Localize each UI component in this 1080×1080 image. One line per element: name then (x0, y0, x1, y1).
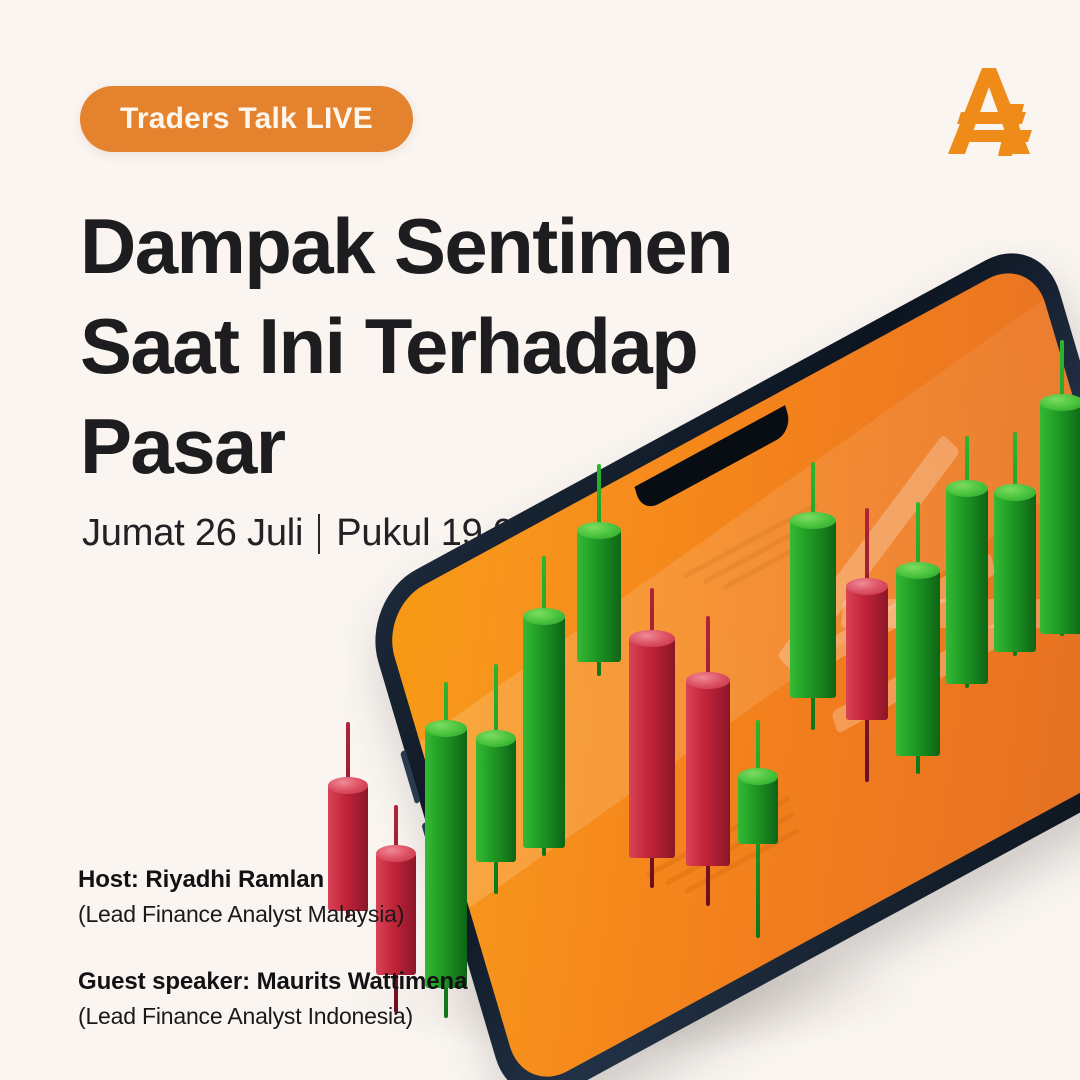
candle-body (994, 492, 1036, 652)
candle-top-cap (738, 768, 778, 785)
candle-top-cap (476, 730, 516, 747)
candlestick-down (629, 630, 675, 850)
guest-role: (Lead Finance Analyst Indonesia) (78, 1003, 467, 1030)
candle-top-cap (523, 608, 565, 625)
candle-top-cap (629, 630, 675, 647)
candle-top-cap (994, 484, 1036, 501)
candlestick-up (523, 608, 565, 840)
candlestick-down (686, 672, 730, 858)
candle-body (738, 776, 778, 844)
candle-body (790, 520, 836, 698)
credit-host: Host: Riyadhi Ramlan (Lead Finance Analy… (78, 866, 467, 928)
candle-body (846, 586, 888, 720)
candle-top-cap (376, 845, 416, 862)
credits: Host: Riyadhi Ramlan (Lead Finance Analy… (78, 866, 467, 1030)
candle-top-cap (577, 522, 621, 539)
candlestick-up (476, 730, 516, 854)
badge-label: Traders Talk LIVE (120, 102, 373, 136)
candlestick-up (946, 480, 988, 676)
candle-top-cap (686, 672, 730, 689)
candle-top-cap (790, 512, 836, 529)
event-date: Jumat 26 Juli (82, 512, 303, 555)
candle-top-cap (425, 720, 467, 737)
traders-talk-live-badge: Traders Talk LIVE (80, 86, 413, 152)
brand-a-logo-icon (934, 60, 1038, 160)
host-role: (Lead Finance Analyst Malaysia) (78, 901, 467, 928)
candlestick-up (1040, 394, 1080, 626)
candlestick-down (846, 578, 888, 712)
host-name: Host: Riyadhi Ramlan (78, 866, 467, 894)
candle-top-cap (896, 562, 940, 579)
candle-body (896, 570, 940, 756)
candlestick-up (994, 484, 1036, 644)
credit-guest: Guest speaker: Maurits Wattimena (Lead F… (78, 968, 467, 1030)
candle-body (629, 638, 675, 858)
candlestick-up (896, 562, 940, 748)
candle-top-cap (328, 777, 368, 794)
candle-body (686, 680, 730, 866)
title-line-1: Dampak Sentimen (80, 196, 780, 296)
candle-body (476, 738, 516, 862)
guest-name: Guest speaker: Maurits Wattimena (78, 968, 467, 996)
candlestick-up (577, 522, 621, 654)
candle-top-cap (946, 480, 988, 497)
promo-poster: Traders Talk LIVE Dampak Sentimen Saat I… (0, 0, 1080, 1080)
candlestick-up (738, 768, 778, 836)
candle-top-cap (846, 578, 888, 595)
candle-body (946, 488, 988, 684)
candle-body (523, 616, 565, 848)
candle-top-cap (1040, 394, 1080, 411)
candle-body (577, 530, 621, 662)
candlestick-up (790, 512, 836, 690)
candle-body (1040, 402, 1080, 634)
